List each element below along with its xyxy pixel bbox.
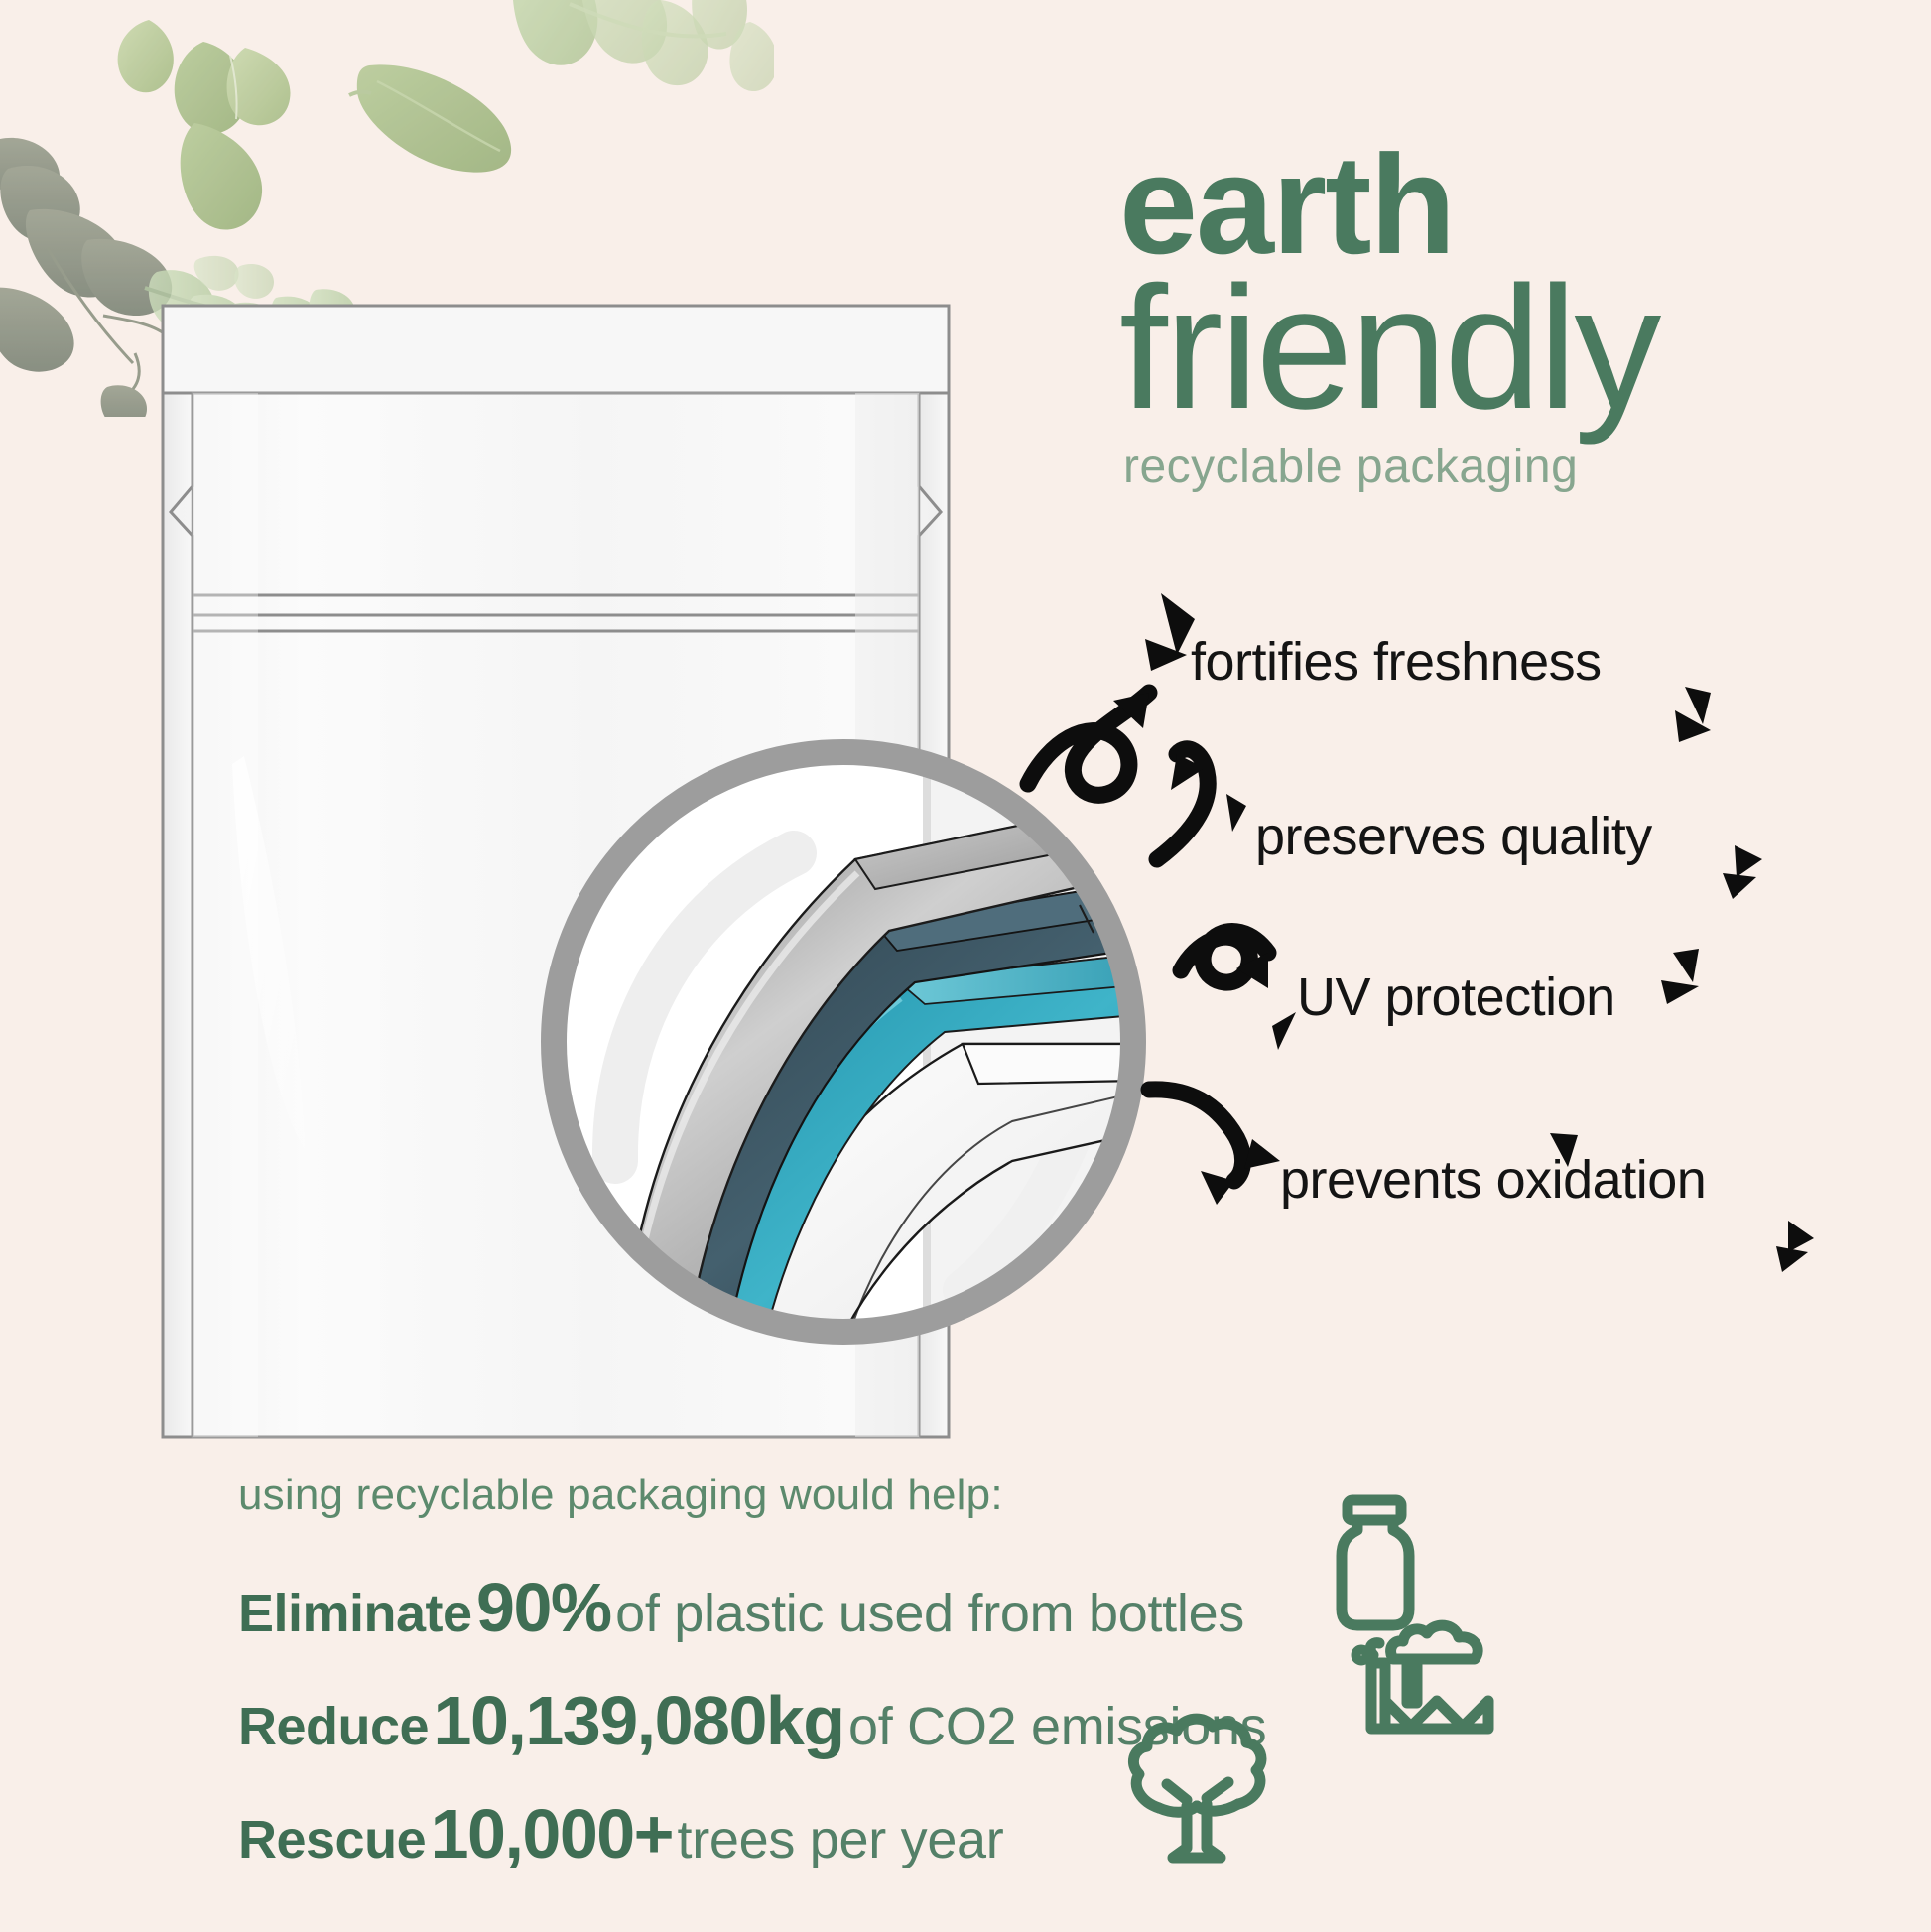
curly-arrow-loop-icon bbox=[1181, 931, 1268, 982]
feature-label-preserves-quality: preserves quality bbox=[1255, 806, 1652, 867]
stat-row-reduce: Reduce 10,139,080kg of CO2 emissions bbox=[238, 1681, 1627, 1760]
stat-verb: Eliminate bbox=[238, 1584, 472, 1643]
headline-line-2: friendly bbox=[1119, 269, 1903, 430]
stat-row-rescue: Rescue 10,000+ trees per year bbox=[238, 1794, 1627, 1873]
stat-value: 10,139,080kg bbox=[434, 1682, 844, 1759]
stat-verb: Reduce bbox=[238, 1697, 429, 1756]
feature-label-fortifies-freshness: fortifies freshness bbox=[1191, 631, 1602, 693]
stat-tail: trees per year bbox=[678, 1810, 1004, 1869]
film-layer-magnifier bbox=[496, 695, 1191, 1389]
stats-lead-text: using recyclable packaging would help: bbox=[238, 1471, 1627, 1520]
feature-label-prevents-oxidation: prevents oxidation bbox=[1280, 1149, 1706, 1211]
stat-row-eliminate: Eliminate 90% of plastic used from bottl… bbox=[238, 1568, 1627, 1647]
stat-verb: Rescue bbox=[238, 1810, 426, 1869]
stat-tail: of CO2 emissions bbox=[848, 1697, 1266, 1756]
headline-subtitle: recyclable packaging bbox=[1119, 440, 1903, 494]
stat-value: 10,000+ bbox=[431, 1795, 673, 1872]
stat-value: 90% bbox=[476, 1569, 611, 1646]
feature-label-uv-protection: UV protection bbox=[1297, 966, 1615, 1028]
headline-block: earth friendly recyclable packaging bbox=[1119, 139, 1903, 494]
watercolor-leaves-decoration-secondary bbox=[357, 0, 774, 268]
stats-block: using recyclable packaging would help: E… bbox=[238, 1471, 1627, 1873]
infographic-canvas: earth friendly recyclable packaging bbox=[0, 0, 1931, 1932]
stat-tail: of plastic used from bottles bbox=[615, 1584, 1244, 1643]
